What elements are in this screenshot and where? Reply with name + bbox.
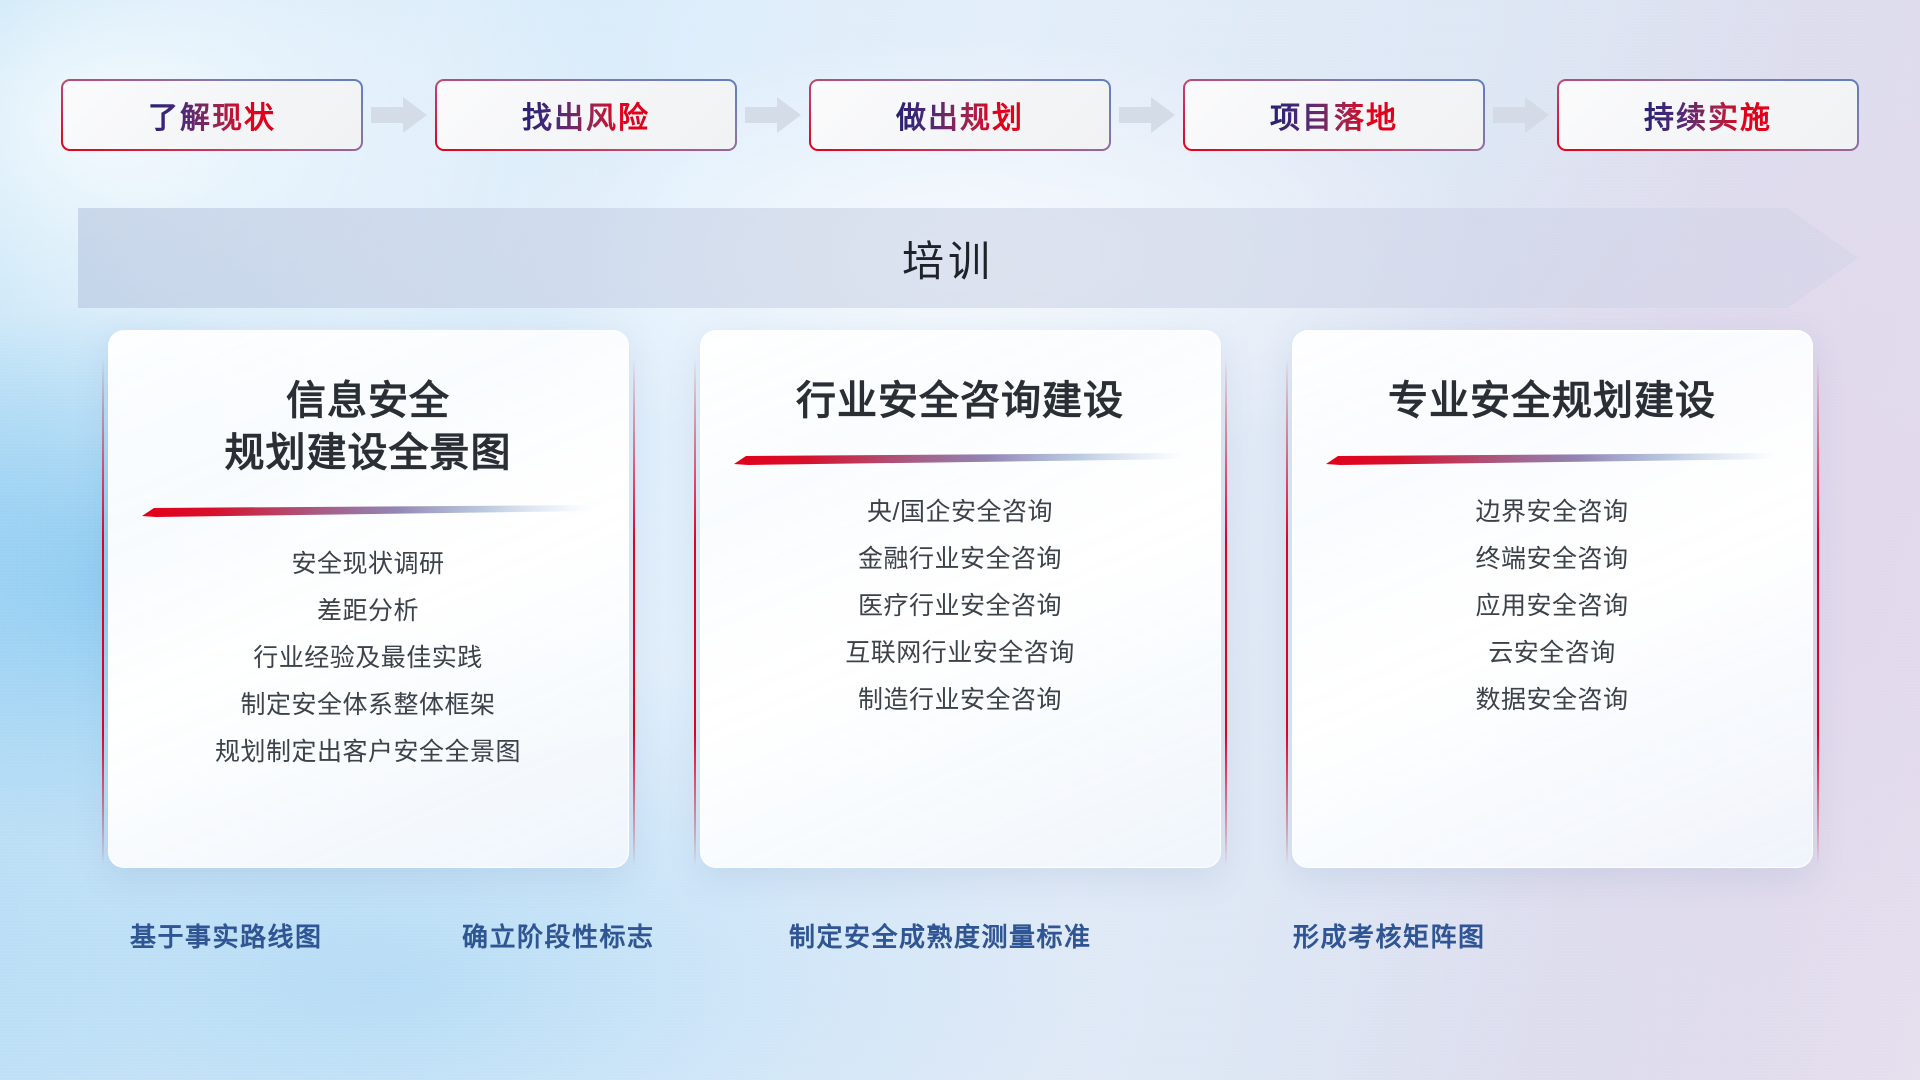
- card-left-accent-line: [102, 358, 104, 866]
- step-box-inner: 做出规划: [811, 81, 1109, 149]
- step-box-inner: 项目落地: [1185, 81, 1483, 149]
- step-box-inner: 了解现状: [63, 81, 361, 149]
- card-right-accent-line: [1817, 358, 1819, 866]
- card-item-list: 央/国企安全咨询金融行业安全咨询医疗行业安全咨询互联网行业安全咨询制造行业安全咨…: [735, 497, 1186, 715]
- card-list-item[interactable]: 应用安全咨询: [1475, 591, 1628, 621]
- bottom-label-1: 基于事实路线图: [130, 905, 323, 965]
- card-body: 信息安全规划建设全景图 安全现状调研差距分析行业经验及最佳实践制定安全体系整体框…: [108, 330, 629, 868]
- card-title-line: 行业安全咨询建设: [796, 375, 1124, 427]
- card-title: 信息安全规划建设全景图: [225, 375, 512, 479]
- card-list-item[interactable]: 边界安全咨询: [1475, 497, 1628, 527]
- card-item-list: 安全现状调研差距分析行业经验及最佳实践制定安全体系整体框架规划制定出客户安全全景…: [143, 549, 594, 767]
- card-title: 专业安全规划建设: [1388, 375, 1716, 427]
- card-title-line: 专业安全规划建设: [1388, 375, 1716, 427]
- bottom-label-2: 确立阶段性标志: [462, 905, 655, 965]
- card-body: 专业安全规划建设 边界安全咨询终端安全咨询应用安全咨询云安全咨询数据安全咨询: [1292, 330, 1813, 868]
- card-right-accent-line: [633, 358, 635, 866]
- card-list-item[interactable]: 行业经验及最佳实践: [253, 643, 483, 673]
- step-box-3[interactable]: 做出规划: [809, 79, 1111, 151]
- step-label: 做出规划: [896, 93, 1024, 137]
- process-step-flow: 了解现状 找出风险 做出规划 项目落地 持续实施: [0, 70, 1920, 160]
- card-3[interactable]: 专业安全规划建设 边界安全咨询终端安全咨询应用安全咨询云安全咨询数据安全咨询: [1286, 330, 1819, 875]
- step-connector-arrow-icon: [1485, 93, 1557, 137]
- card-2[interactable]: 行业安全咨询建设 央/国企安全咨询金融行业安全咨询医疗行业安全咨询互联网行业安全…: [694, 330, 1227, 875]
- banner-title: 培训: [78, 208, 1818, 308]
- training-banner-arrow: 培训: [78, 208, 1858, 308]
- card-list-item[interactable]: 数据安全咨询: [1475, 685, 1628, 715]
- step-box-inner: 持续实施: [1559, 81, 1857, 149]
- card-divider: [142, 505, 594, 517]
- card-list-item[interactable]: 金融行业安全咨询: [858, 544, 1062, 574]
- card-title: 行业安全咨询建设: [796, 375, 1124, 427]
- step-connector-arrow-icon: [1111, 93, 1183, 137]
- card-title-line: 规划建设全景图: [225, 427, 512, 479]
- step-label: 找出风险: [522, 93, 650, 137]
- card-list-item[interactable]: 安全现状调研: [291, 549, 444, 579]
- bottom-label-4: 形成考核矩阵图: [1293, 905, 1486, 965]
- card-list-item[interactable]: 制定安全体系整体框架: [240, 690, 495, 720]
- step-box-1[interactable]: 了解现状: [61, 79, 363, 151]
- card-right-accent-line: [1225, 358, 1227, 866]
- step-label: 项目落地: [1270, 93, 1398, 137]
- step-box-2[interactable]: 找出风险: [435, 79, 737, 151]
- card-title-line: 信息安全: [225, 375, 512, 427]
- step-box-inner: 找出风险: [437, 81, 735, 149]
- card-divider: [1326, 453, 1778, 465]
- card-list-item[interactable]: 央/国企安全咨询: [867, 497, 1053, 527]
- card-list-item[interactable]: 终端安全咨询: [1475, 544, 1628, 574]
- card-divider: [734, 453, 1186, 465]
- card-list-item[interactable]: 差距分析: [317, 596, 419, 626]
- card-list-item[interactable]: 云安全咨询: [1488, 638, 1616, 668]
- step-label: 了解现状: [148, 93, 276, 137]
- card-list-item[interactable]: 制造行业安全咨询: [858, 685, 1062, 715]
- card-left-accent-line: [694, 358, 696, 866]
- card-list-item[interactable]: 规划制定出客户安全全景图: [215, 737, 521, 767]
- step-box-5[interactable]: 持续实施: [1557, 79, 1859, 151]
- step-box-4[interactable]: 项目落地: [1183, 79, 1485, 151]
- step-connector-arrow-icon: [737, 93, 809, 137]
- capability-cards: 信息安全规划建设全景图 安全现状调研差距分析行业经验及最佳实践制定安全体系整体框…: [0, 330, 1920, 875]
- card-list-item[interactable]: 互联网行业安全咨询: [845, 638, 1075, 668]
- card-body: 行业安全咨询建设 央/国企安全咨询金融行业安全咨询医疗行业安全咨询互联网行业安全…: [700, 330, 1221, 868]
- bottom-labels: 基于事实路线图确立阶段性标志制定安全成熟度测量标准形成考核矩阵图: [0, 905, 1920, 965]
- step-label: 持续实施: [1644, 93, 1772, 137]
- step-connector-arrow-icon: [363, 93, 435, 137]
- card-list-item[interactable]: 医疗行业安全咨询: [858, 591, 1062, 621]
- card-1[interactable]: 信息安全规划建设全景图 安全现状调研差距分析行业经验及最佳实践制定安全体系整体框…: [102, 330, 635, 875]
- bottom-label-3: 制定安全成熟度测量标准: [789, 905, 1092, 965]
- card-left-accent-line: [1286, 358, 1288, 866]
- card-item-list: 边界安全咨询终端安全咨询应用安全咨询云安全咨询数据安全咨询: [1327, 497, 1778, 715]
